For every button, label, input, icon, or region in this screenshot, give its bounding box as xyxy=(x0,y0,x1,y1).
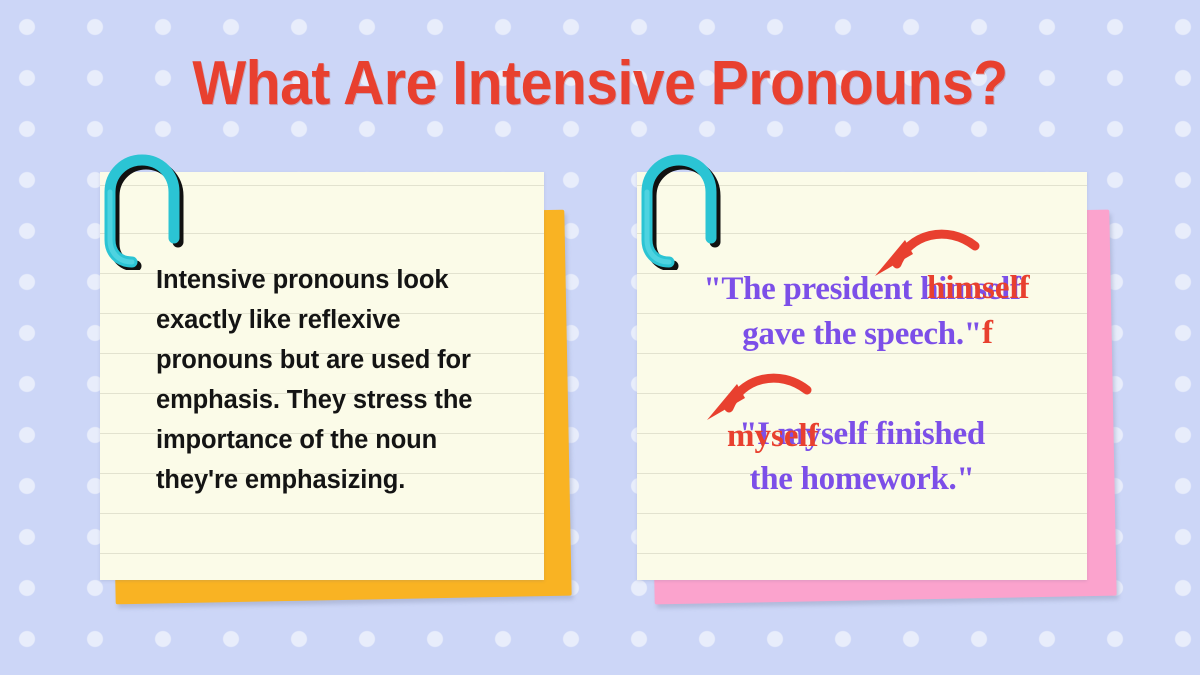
slide-canvas: What Are Intensive Pronouns? Intensive p… xyxy=(0,0,1200,675)
page-title: What Are Intensive Pronouns? xyxy=(48,48,1152,119)
example-1-emphasis-fragment: f xyxy=(982,311,993,356)
curved-arrow-icon xyxy=(867,220,987,287)
example-2-line-2: the homework." xyxy=(637,457,1087,502)
left-note-card: Intensive pronouns look exactly like ref… xyxy=(86,160,586,620)
left-card-body-text: Intensive pronouns look exactly like ref… xyxy=(156,260,506,500)
right-note-card: "The president himself gave the speech."… xyxy=(623,160,1133,620)
paperclip-icon xyxy=(635,150,727,270)
example-1-line-2: gave the speech." xyxy=(637,312,1087,357)
paperclip-icon xyxy=(98,150,190,270)
curved-arrow-icon xyxy=(699,364,819,431)
